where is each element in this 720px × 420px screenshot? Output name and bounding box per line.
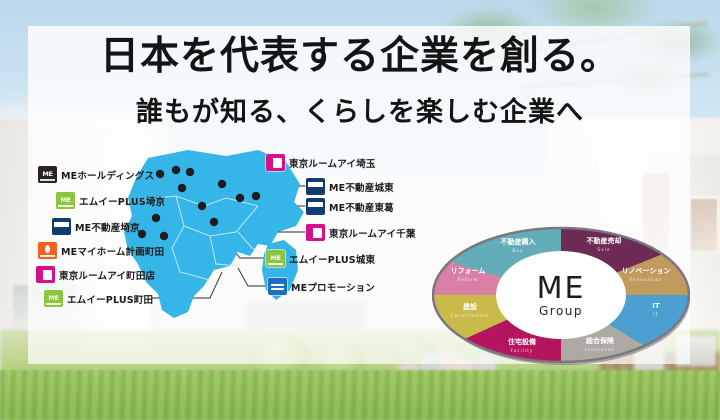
map-label-text: エムイーPLUS埼京 xyxy=(79,194,165,208)
map-label-text: MEホールディングス xyxy=(61,168,154,182)
map-label-text: ME不動産埼京 xyxy=(75,220,140,234)
wheel-label-ja: 不動産売却 xyxy=(587,236,622,245)
wheel-label-en: IT xyxy=(653,312,659,317)
wheel-label-en: Renovation xyxy=(629,277,663,282)
map-label-text: MEマイホーム計画町田 xyxy=(61,244,164,258)
me-fudosan-icon xyxy=(52,218,71,235)
map-label-text: エムイーPLUS城東 xyxy=(289,252,375,266)
wheel-label-en: Construction xyxy=(451,313,490,318)
wheel-label-en: Reform xyxy=(457,277,478,282)
map-label-me-myhome-machida[interactable]: MEマイホーム計画町田 xyxy=(38,242,164,259)
wheel-label-ja: IT xyxy=(652,302,660,310)
me-myhome-icon xyxy=(38,242,57,259)
me-fudosan-icon xyxy=(306,198,325,215)
map-label-text: 東京ルームアイ町田店 xyxy=(59,268,155,282)
map-label-me-promotion[interactable]: MEプロモーション xyxy=(268,278,375,295)
map-label-text: エムイーPLUS町田 xyxy=(67,292,153,306)
map-label-tokyo-roomai-chiba[interactable]: 東京ルームアイ千葉 xyxy=(306,224,416,241)
page-title: 日本を代表する企業を創る。 xyxy=(0,36,720,78)
page-subtitle: 誰もが知る、くらしを楽しむ企業へ xyxy=(0,98,720,128)
wheel-center-logo: ME Group xyxy=(496,251,626,339)
tokyo-roomai-icon xyxy=(306,224,325,241)
map-label-me-fudosan-tokatsu[interactable]: ME不動産東葛 xyxy=(306,198,394,215)
map-label-me-holdings[interactable]: ME MEホールディングス xyxy=(38,166,154,183)
me-plus-icon: ME xyxy=(56,192,75,209)
wheel-label-ja: 住宅設備 xyxy=(508,337,536,346)
wheel-label-en: Insurance xyxy=(585,347,615,352)
map-label-me-plus-machida[interactable]: ME エムイーPLUS町田 xyxy=(44,290,153,307)
wheel-label-ja: リフォーム xyxy=(451,267,486,275)
wheel-label-ja: 建設 xyxy=(463,302,478,311)
hero-banner: 日本を代表する企業を創る。 誰もが知る、くらしを楽しむ企業へ xyxy=(0,0,720,420)
wheel-label-en: Facility xyxy=(511,348,534,353)
wheel-label-ja: 不動産購入 xyxy=(501,237,536,246)
map-label-text: 東京ルームアイ埼玉 xyxy=(289,156,376,170)
map-label-me-plus-joto[interactable]: ME エムイーPLUS城東 xyxy=(266,250,375,267)
me-plus-icon: ME xyxy=(44,290,63,307)
tokyo-roomai-icon xyxy=(36,266,55,283)
house-right-window xyxy=(688,196,720,254)
wheel-label-ja: 総合保険 xyxy=(586,336,615,345)
tokyo-roomai-icon xyxy=(266,154,285,171)
business-wheel: 不動産購入 Buy 不動産売却 Sale リノベーション Renovation … xyxy=(432,222,690,368)
map-label-text: ME不動産城東 xyxy=(329,180,394,194)
map-label-me-plus-saikyo[interactable]: ME エムイーPLUS埼京 xyxy=(56,192,165,209)
map-label-text: 東京ルームアイ千葉 xyxy=(329,226,416,240)
map-label-me-fudosan-joto[interactable]: ME不動産城東 xyxy=(306,178,394,195)
wheel-label-en: Sale xyxy=(598,247,611,252)
wheel-label-en: Buy xyxy=(512,248,523,253)
wheel-label-ja: リノベーション xyxy=(622,267,671,275)
me-holdings-icon: ME xyxy=(38,166,57,183)
map-label-text: MEプロモーション xyxy=(291,280,375,294)
map-label-tokyo-roomai-machida[interactable]: 東京ルームアイ町田店 xyxy=(36,266,155,283)
me-group-logo-main: ME xyxy=(537,274,586,304)
map-label-tokyo-roomai-saitama[interactable]: 東京ルームアイ埼玉 xyxy=(266,154,376,171)
me-plus-icon: ME xyxy=(266,250,285,267)
me-fudosan-icon xyxy=(306,178,325,195)
me-promotion-icon xyxy=(268,278,287,295)
hedge-foreground xyxy=(0,370,720,420)
me-group-logo-sub: Group xyxy=(539,305,583,317)
map-label-me-fudosan-saikyo[interactable]: ME不動産埼京 xyxy=(52,218,140,235)
map-label-text: ME不動産東葛 xyxy=(329,200,394,214)
